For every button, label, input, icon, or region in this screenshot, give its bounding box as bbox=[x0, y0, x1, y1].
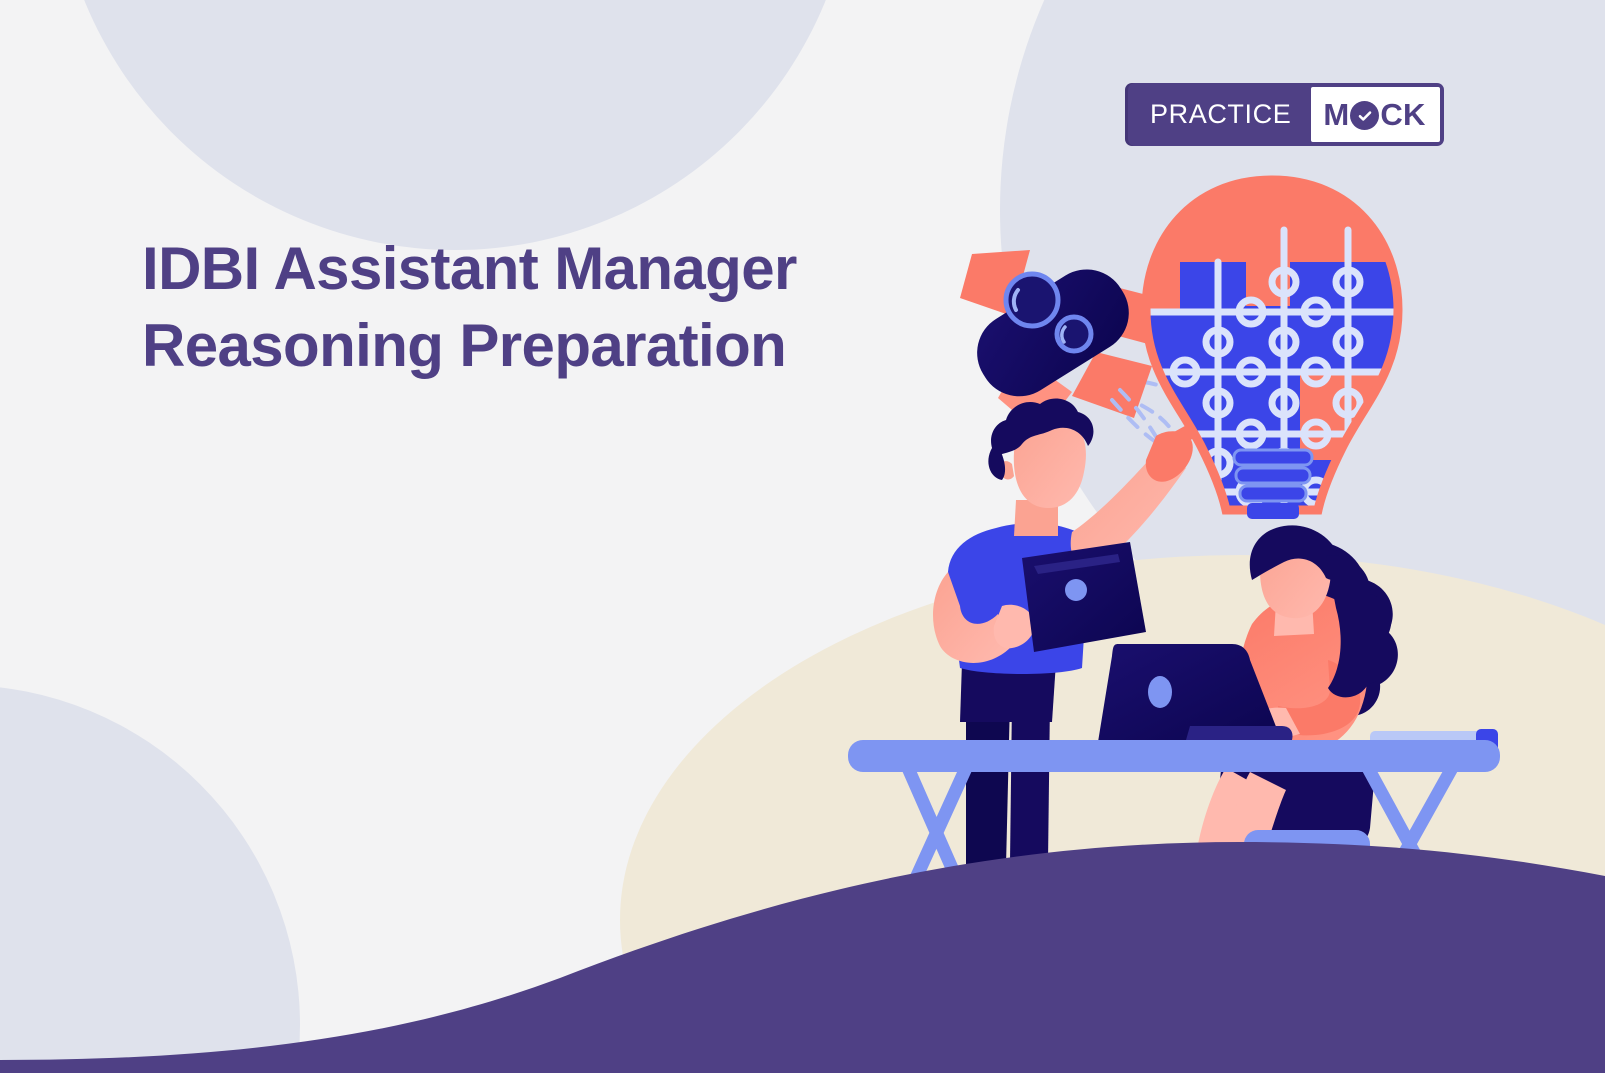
tablet bbox=[1022, 542, 1146, 652]
logo-mock-word: M CK bbox=[1323, 97, 1425, 133]
illustration bbox=[0, 0, 1605, 1073]
laptop-base bbox=[1186, 726, 1293, 740]
logo-mock-plate: M CK bbox=[1311, 87, 1439, 142]
logo-practice-text: PRACTICE bbox=[1128, 83, 1311, 146]
banner-root: IDBI Assistant Manager Reasoning Prepara… bbox=[0, 0, 1605, 1073]
laptop-logo-dot bbox=[1148, 676, 1172, 708]
logo-mock-suffix: CK bbox=[1380, 97, 1425, 133]
check-icon bbox=[1350, 101, 1379, 130]
tablet-camera-dot bbox=[1065, 579, 1087, 601]
man-leg-front bbox=[966, 700, 1010, 866]
brand-logo[interactable]: PRACTICE M CK bbox=[1128, 83, 1444, 146]
page-title: IDBI Assistant Manager Reasoning Prepara… bbox=[142, 231, 922, 385]
logo-mock-prefix: M bbox=[1323, 97, 1349, 133]
desk-top bbox=[848, 740, 1500, 772]
man-leg-back bbox=[1010, 700, 1050, 862]
foreground-purple-wave bbox=[0, 842, 1605, 1073]
